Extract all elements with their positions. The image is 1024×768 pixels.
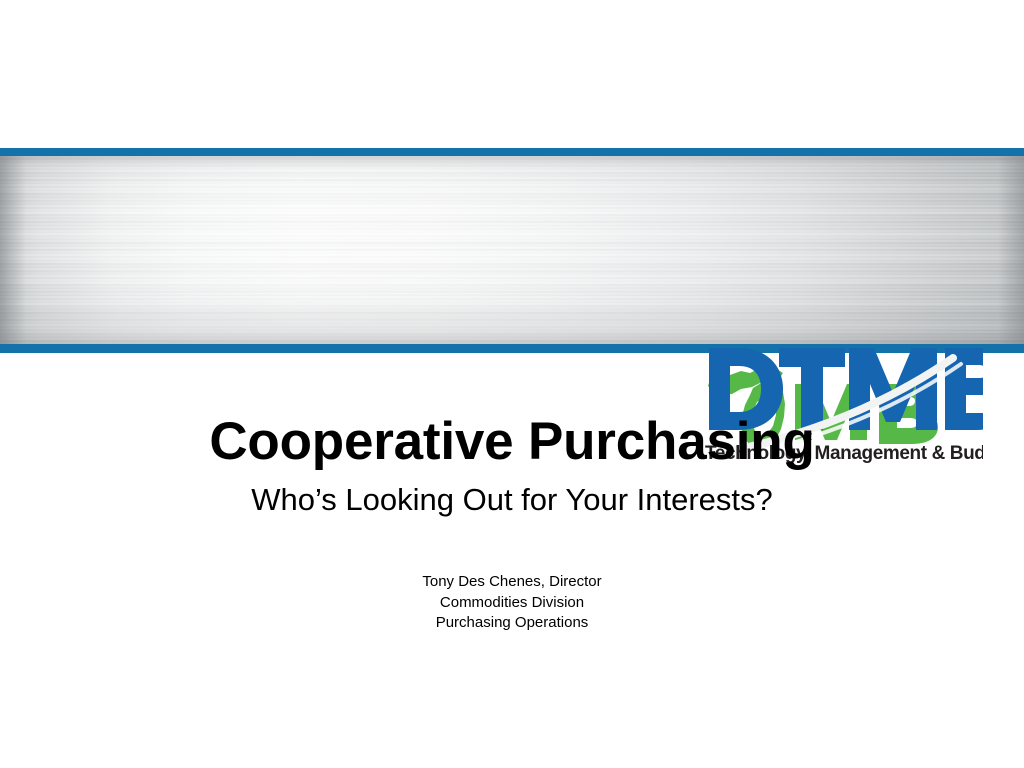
presenter-block: Tony Des Chenes, Director Commodities Di… (0, 572, 1024, 634)
brushed-metal-plate (0, 156, 1024, 344)
title-block: Cooperative Purchasing Who’s Looking Out… (0, 414, 1024, 518)
page-title: Cooperative Purchasing (0, 414, 1024, 471)
banner-top-rule (0, 148, 1024, 156)
presenter-division: Commodities Division (0, 593, 1024, 614)
presenter-name-role: Tony Des Chenes, Director (0, 572, 1024, 593)
presenter-department: Purchasing Operations (0, 613, 1024, 634)
header-banner: Technology, Management & Budget (0, 148, 1024, 353)
plate-vertical-shading (0, 156, 1024, 344)
slide-canvas: Technology, Management & Budget Cooperat… (0, 0, 1024, 768)
page-subtitle: Who’s Looking Out for Your Interests? (0, 481, 1024, 518)
